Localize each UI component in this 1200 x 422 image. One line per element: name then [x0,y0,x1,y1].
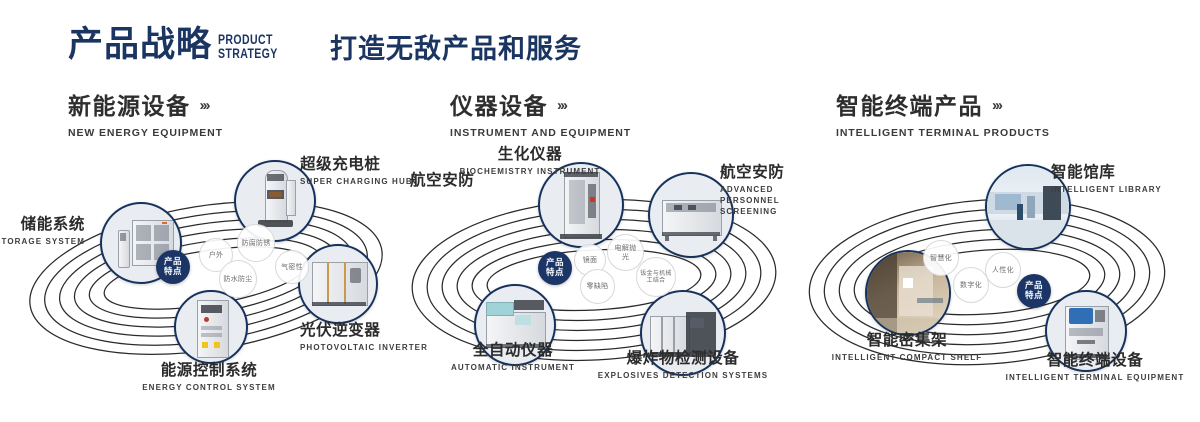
feature-text: 防水防尘 [220,275,255,284]
feature-text: 户外 [209,251,224,260]
label-en: INTELLIGENT TERMINAL EQUIPMENT [995,372,1195,383]
product-feature-badge[interactable]: 产品 特点 [156,250,190,284]
label-automatic-instrument: 全自动仪器 AUTOMATIC INSTRUMENT [428,342,598,373]
label-en: SUPER CHARGING HUB [300,176,413,187]
section-heading-en: NEW ENERGY EQUIPMENT [68,127,223,139]
chevrons-right-icon: ››› [557,97,566,114]
page-header: 产品战略 PRODUCT STRATEGY 打造无敌产品和服务 [0,0,1200,88]
feature-bubble-smart: 智慧化 [923,240,959,276]
badge-line1: 产品 [1025,281,1043,291]
feature-bubble-airtight: 气密性 [275,250,309,284]
page-title-english-line2: STRATEGY [218,46,278,61]
section-heading-en: INTELLIGENT TERMINAL PRODUCTS [836,127,1050,139]
label-cn: 航空安防 [410,172,474,190]
label-cn: 智能终端设备 [995,352,1195,370]
inverter-illustration [300,246,376,322]
page-title: 产品战略 [68,28,212,63]
section-heading-cn: 新能源设备 [68,96,191,119]
section-heading-intelligent-terminal: 智能终端产品››› INTELLIGENT TERMINAL PRODUCTS [836,96,1050,139]
label-cn: 智能馆库 [1051,164,1162,182]
label-cn: 储能系统 [0,216,85,234]
chevrons-right-icon: ››› [200,97,209,114]
label-cn: 全自动仪器 [428,342,598,360]
feature-text: 防腐防锈 [238,239,273,248]
feature-bubble-waterproof: 防水防尘 [219,260,257,298]
section-heading-cn: 仪器设备 [450,96,548,119]
feature-bubble-sheetmetal-machining: 钣金与机械工结合 [636,257,676,297]
badge-text: 产品 特点 [164,257,182,277]
badge-line2: 特点 [546,268,564,278]
feature-bubble-humanized: 人性化 [985,252,1021,288]
label-intelligent-library: 智能馆库 INTELLIGENT LIBRARY [1051,164,1162,195]
badge-line2: 特点 [164,267,182,277]
infographic-canvas: 产品战略 PRODUCT STRATEGY 打造无敌产品和服务 新能源设备›››… [0,0,1200,422]
page-title-english-line1: PRODUCT [218,32,273,47]
label-en: ENERGY STORAGE SYSTEM [0,236,85,247]
page-title-english: PRODUCT STRATEGY [218,33,278,61]
label-intelligent-compact-shelf: 智能密集架 INTELLIGENT COMPACT SHELF [817,332,997,363]
label-en: AUTOMATIC INSTRUMENT [428,362,598,373]
badge-text: 产品 特点 [546,258,564,278]
feature-bubble-anticorrosion: 防腐防锈 [237,224,275,262]
feature-text: 电解抛光 [608,244,643,261]
section-heading-instrument: 仪器设备››› INSTRUMENT AND EQUIPMENT [450,96,631,139]
cluster-new-energy: 储能系统 ENERGY STORAGE SYSTEM 超级充电桩 SUPER C… [10,150,410,400]
label-cn: 爆炸物检测设备 [588,350,778,368]
label-cn: 生化仪器 [450,146,610,164]
section-heading-cn: 智能终端产品 [836,96,983,119]
label-en: INTELLIGENT LIBRARY [1051,184,1162,195]
product-feature-badge[interactable]: 产品 特点 [538,251,572,285]
section-heading-en: INSTRUMENT AND EQUIPMENT [450,127,631,139]
label-energy-storage-system: 储能系统 ENERGY STORAGE SYSTEM [0,216,85,247]
label-cn: 能源控制系统 [114,362,304,380]
label-aviation-security: 航空安防 [410,172,474,190]
feature-text: 零缺陷 [584,282,612,291]
feature-text: 人性化 [992,266,1014,275]
badge-line2: 特点 [1025,291,1043,301]
feature-text: 气密性 [281,263,303,272]
product-feature-badge[interactable]: 产品 特点 [1017,274,1051,308]
chevrons-right-icon: ››› [992,97,1001,114]
page-subtitle: 打造无敌产品和服务 [330,36,582,63]
cluster-intelligent-terminal: 智能馆库 INTELLIGENT LIBRARY 智能密集架 INTELLIGE… [795,150,1195,400]
feature-text: 镜面 [583,256,598,265]
node-photovoltaic-inverter[interactable] [298,244,378,324]
label-cn: 智能密集架 [817,332,997,350]
badge-line1: 产品 [164,257,182,267]
label-explosives-detection: 爆炸物检测设备 EXPLOSIVES DETECTION SYSTEMS [588,350,778,381]
feature-text: 钣金与机械工结合 [637,270,675,285]
badge-text: 产品 特点 [1025,281,1043,301]
node-energy-control-system[interactable] [174,290,248,364]
badge-line1: 产品 [546,258,564,268]
label-intelligent-terminal-equipment: 智能终端设备 INTELLIGENT TERMINAL EQUIPMENT [995,352,1195,383]
control-system-illustration [176,292,246,362]
label-cn: 超级充电桩 [300,156,413,174]
feature-bubble-zero-defect: 零缺陷 [580,269,615,304]
label-en: ENERGY CONTROL SYSTEM [114,382,304,393]
label-en: INTELLIGENT COMPACT SHELF [817,352,997,363]
feature-bubble-digital: 数字化 [953,267,989,303]
feature-text: 数字化 [960,281,982,290]
label-super-charging-hub: 超级充电桩 SUPER CHARGING HUB [300,156,413,187]
label-energy-control-system: 能源控制系统 ENERGY CONTROL SYSTEM [114,362,304,393]
label-en: EXPLOSIVES DETECTION SYSTEMS [588,370,778,381]
feature-text: 智慧化 [930,254,952,263]
section-heading-new-energy: 新能源设备››› NEW ENERGY EQUIPMENT [68,96,223,139]
cluster-instrument: 生化仪器 BIOCHEMISTRY INSTRUMENT 航空安防 航空安防 A… [398,150,798,400]
